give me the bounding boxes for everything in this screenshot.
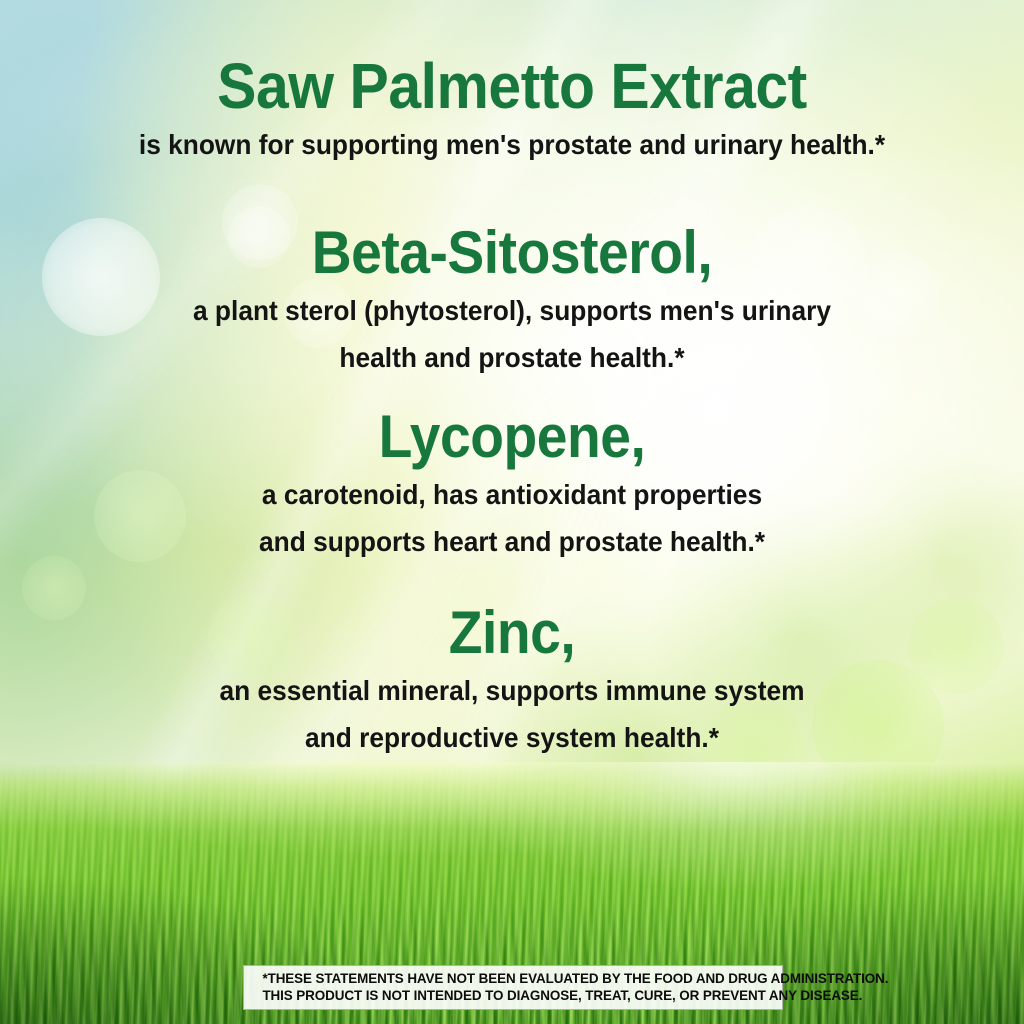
ingredient-block-zinc: Zinc, an essential mineral, supports imm…: [0, 602, 1024, 756]
ingredient-description-line: is known for supporting men's prostate a…: [31, 127, 994, 163]
ingredient-block-saw-palmetto: Saw Palmetto Extract is known for suppor…: [0, 54, 1024, 164]
ingredient-description-line: and supports heart and prostate health.*: [31, 524, 994, 560]
ingredient-heading-beta-sitosterol: Beta-Sitosterol,: [41, 222, 983, 283]
ingredient-block-beta-sitosterol: Beta-Sitosterol, a plant sterol (phytost…: [0, 222, 1024, 376]
ingredient-description-line: a carotenoid, has antioxidant properties: [31, 477, 994, 513]
supplement-ingredient-poster: Saw Palmetto Extract is known for suppor…: [0, 0, 1024, 1024]
fda-disclaimer-line-2: THIS PRODUCT IS NOT INTENDED TO DIAGNOSE…: [262, 987, 763, 1004]
ingredient-description-line: an essential mineral, supports immune sy…: [31, 673, 994, 709]
ingredient-description-line: and reproductive system health.*: [31, 720, 994, 756]
ingredient-heading-zinc: Zinc,: [41, 602, 983, 663]
ingredient-heading-saw-palmetto: Saw Palmetto Extract: [41, 54, 983, 119]
fda-disclaimer-box: *THESE STATEMENTS HAVE NOT BEEN EVALUATE…: [243, 965, 783, 1010]
fda-disclaimer-line-1: *THESE STATEMENTS HAVE NOT BEEN EVALUATE…: [262, 970, 763, 987]
ingredient-description-line: health and prostate health.*: [31, 340, 994, 376]
poster-content: Saw Palmetto Extract is known for suppor…: [0, 0, 1024, 1024]
ingredient-description-line: a plant sterol (phytosterol), supports m…: [31, 293, 994, 329]
ingredient-block-lycopene: Lycopene, a carotenoid, has antioxidant …: [0, 406, 1024, 560]
ingredient-heading-lycopene: Lycopene,: [41, 406, 983, 467]
